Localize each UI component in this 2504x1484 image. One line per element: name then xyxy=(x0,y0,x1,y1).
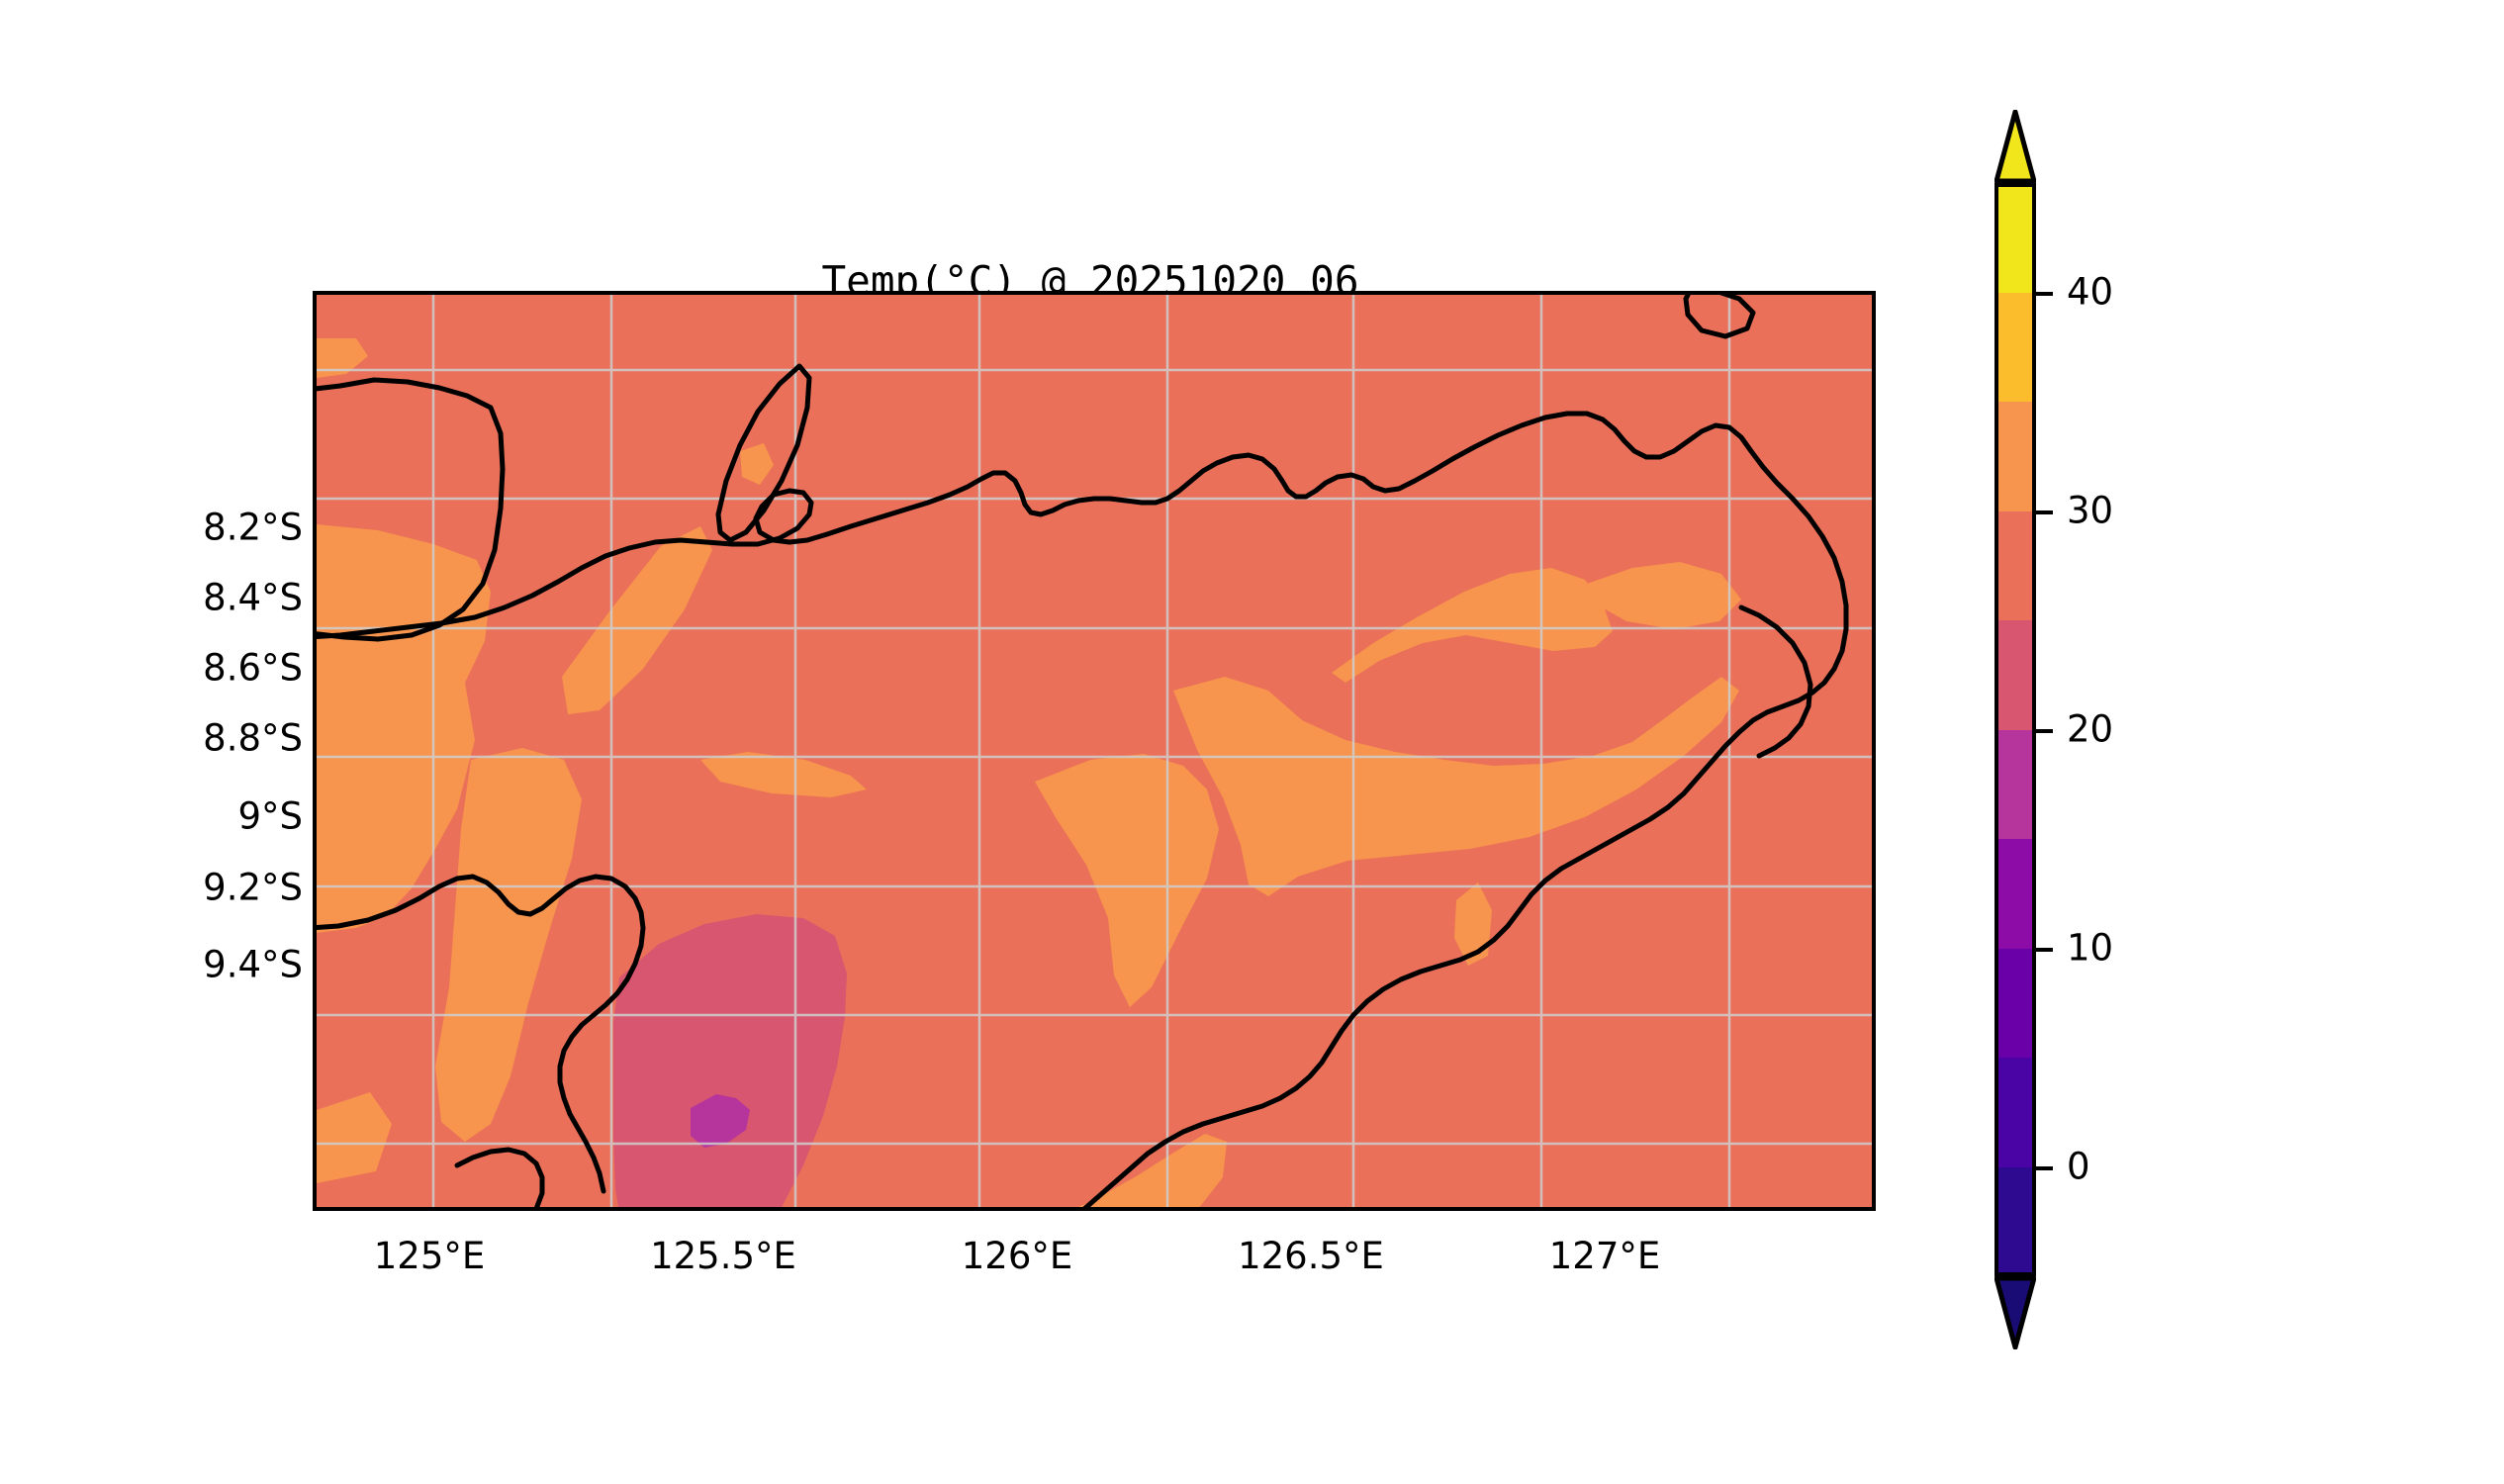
colorbar-tick-mark-10 xyxy=(2036,948,2053,952)
colorbar-band-neg5-0 xyxy=(1994,1167,2036,1277)
xtick-label-2: 126°E xyxy=(962,1235,1073,1277)
colorbar-extend-arrow-bottom xyxy=(1994,1276,2036,1349)
colorbar-tick-mark-30 xyxy=(2036,510,2053,514)
colorbar[interactable] xyxy=(1994,183,2036,1276)
xtick-label-1: 125.5°E xyxy=(650,1235,796,1277)
colorbar-tick-label-10: 10 xyxy=(2067,927,2113,970)
colorbar-tick-label-0: 0 xyxy=(2067,1146,2090,1188)
colorbar-band-40-45 xyxy=(1994,183,2036,293)
xtick-label-0: 125°E xyxy=(374,1235,486,1277)
ytick-label-3: 8.8°S xyxy=(203,717,303,760)
ytick-label-6: 9.4°S xyxy=(203,944,303,986)
colorbar-gradient xyxy=(1994,183,2036,1276)
colorbar-tick-label-20: 20 xyxy=(2067,708,2113,751)
xtick-label-4: 127°E xyxy=(1549,1235,1661,1277)
colorbar-band-30-35 xyxy=(1994,402,2036,511)
colorbar-band-15-20 xyxy=(1994,730,2036,840)
map-axes xyxy=(313,291,1876,1211)
colorbar-band-20-25 xyxy=(1994,620,2036,730)
colorbar-band-5-10 xyxy=(1994,949,2036,1059)
colorbar-tick-mark-20 xyxy=(2036,729,2053,733)
contour-map-svg xyxy=(317,295,1872,1207)
ytick-label-1: 8.4°S xyxy=(203,577,303,619)
colorbar-tick-mark-0 xyxy=(2036,1166,2053,1170)
ytick-label-2: 8.6°S xyxy=(203,647,303,690)
xtick-label-3: 126.5°E xyxy=(1238,1235,1384,1277)
colorbar-band-0-5 xyxy=(1994,1058,2036,1167)
map-plot-area xyxy=(317,295,1872,1207)
colorbar-extend-arrow-top xyxy=(1994,110,2036,183)
colorbar-band-35-40 xyxy=(1994,293,2036,403)
figure-canvas: Temp(°C) @ 20251020_06 Simulation Time: … xyxy=(0,0,2504,1484)
ytick-label-5: 9.2°S xyxy=(203,867,303,909)
colorbar-tick-label-40: 40 xyxy=(2067,271,2113,314)
colorbar-band-25-30 xyxy=(1994,511,2036,621)
colorbar-tick-mark-40 xyxy=(2036,292,2053,296)
ytick-label-0: 8.2°S xyxy=(203,507,303,549)
colorbar-band-10-15 xyxy=(1994,839,2036,949)
colorbar-tick-label-30: 30 xyxy=(2067,490,2113,532)
ytick-label-4: 9°S xyxy=(237,795,303,838)
